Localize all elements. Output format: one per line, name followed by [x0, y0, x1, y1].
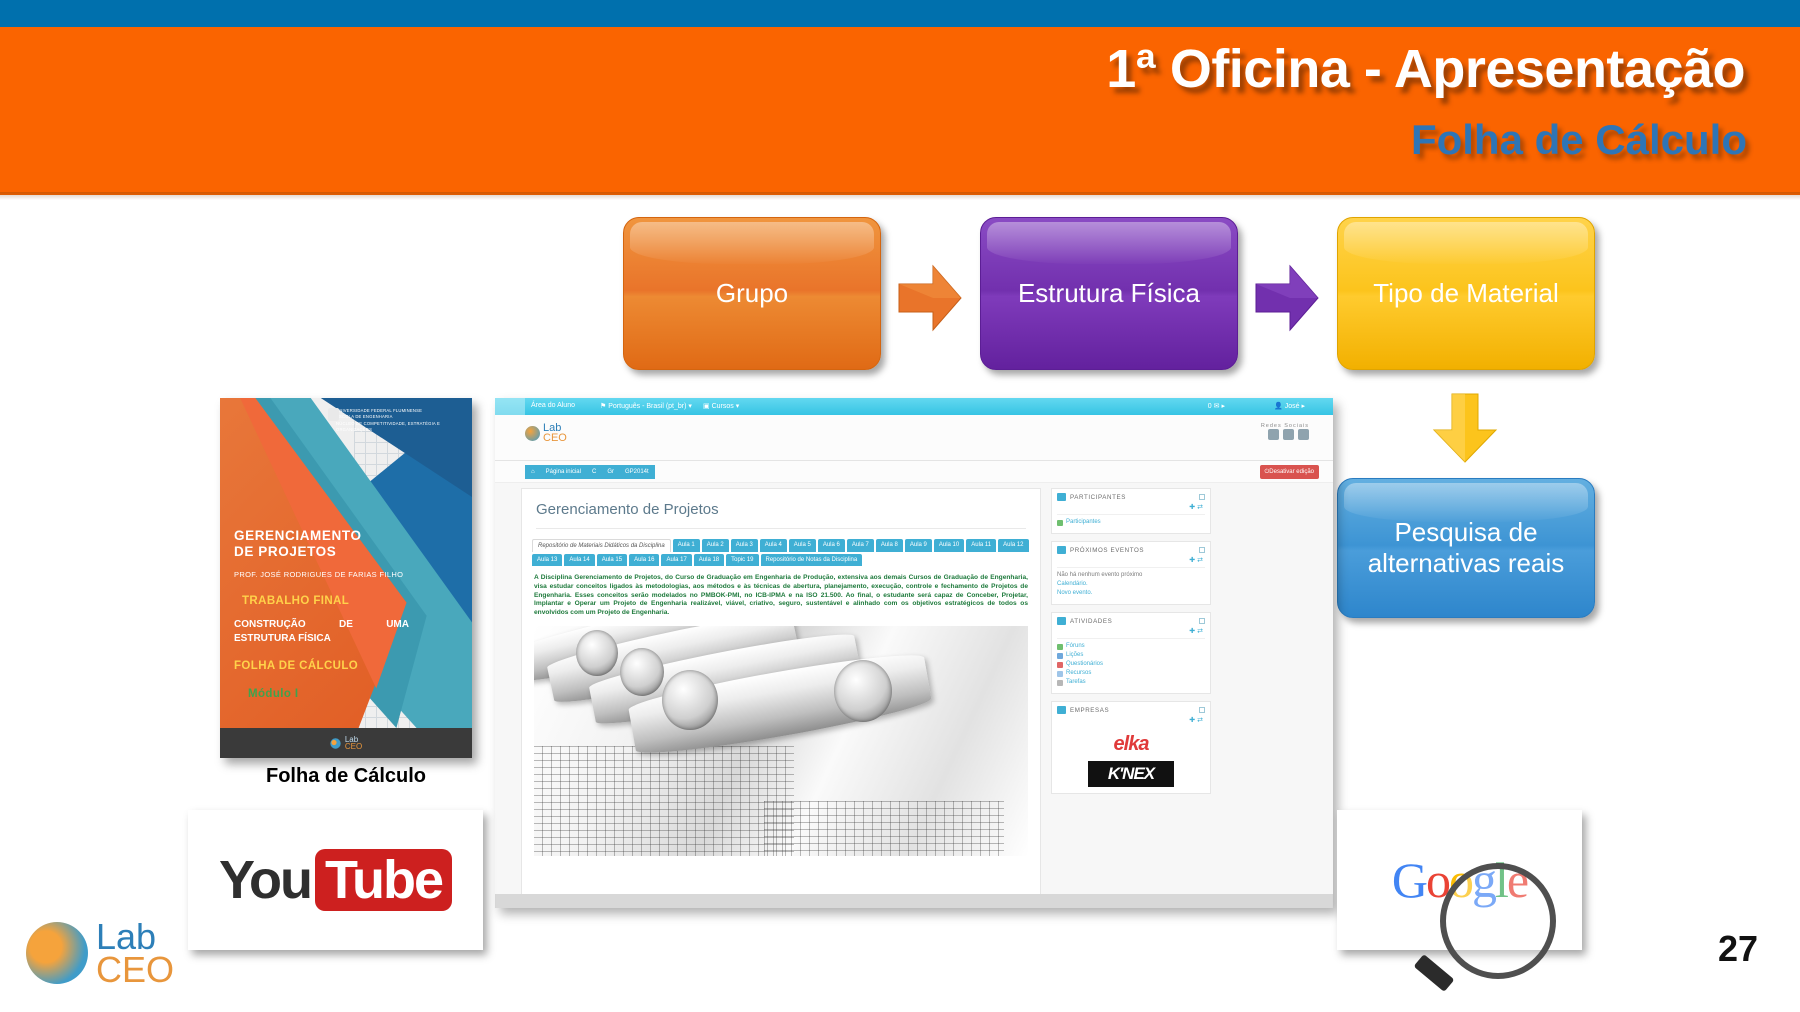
flow-box-tipo-label: Tipo de Material [1363, 278, 1568, 309]
activities-icon [1057, 617, 1066, 625]
calendar-icon [1057, 546, 1066, 554]
sidebar-block-tools[interactable]: ✚⇄ [1057, 627, 1205, 635]
moodle-logo[interactable]: Lab CEO [525, 423, 567, 444]
breadcrumb-item-0[interactable]: Página inicial [546, 469, 581, 475]
facebook-icon[interactable] [1283, 429, 1294, 440]
toggle-editing-button[interactable]: ⏻ Desativar edição [1260, 465, 1319, 479]
top-blue-bar [0, 0, 1800, 27]
breadcrumb-item-3[interactable]: GP2014t [625, 469, 649, 475]
cover-construcao-3: UMA [386, 618, 409, 632]
moodle-header: Lab CEO Redes Sociais [495, 415, 1333, 461]
course-tab[interactable]: Aula 12 [998, 539, 1028, 552]
collapse-icon[interactable] [1199, 707, 1205, 713]
config-icon[interactable]: ⇄ [1197, 557, 1205, 564]
sidebar-link[interactable]: Participantes [1057, 518, 1205, 527]
flow-box-grupo-label: Grupo [706, 278, 798, 309]
cover-caption: Folha de Cálculo [220, 765, 472, 788]
google-logo-tile[interactable]: Google [1337, 810, 1582, 950]
sidebar-link[interactable]: Calendário. [1057, 580, 1205, 589]
sidebar-block-header: PARTICIPANTES [1057, 493, 1205, 501]
course-tab[interactable]: Aula 3 [731, 539, 758, 552]
move-icon[interactable]: ✚ [1189, 717, 1197, 724]
sidebar-block: PRÓXIMOS EVENTOS✚⇄Não há nenhum evento p… [1051, 541, 1211, 605]
navbar-left-accent [495, 398, 525, 415]
flag-icon: ⚑ [600, 403, 606, 410]
sidebar-block: ATIVIDADES✚⇄FórunsLiçõesQuestionáriosRec… [1051, 612, 1211, 694]
moodle-screenshot[interactable]: Área do Aluno ⚑ Português - Brasil (pt_b… [495, 398, 1333, 908]
course-tab[interactable]: Aula 13 [532, 554, 562, 566]
collapse-icon[interactable] [1199, 547, 1205, 553]
list-bullet-icon [1057, 653, 1063, 659]
moodle-nav-user-label: José [1285, 403, 1300, 410]
sidebar-link[interactable]: Fóruns [1057, 642, 1205, 651]
moodle-nav-courses[interactable]: ▣ Cursos ▾ [703, 402, 739, 410]
course-tab[interactable]: Topic 19 [726, 554, 758, 566]
cover-footer-ceo: CEO [345, 743, 362, 750]
course-tab[interactable]: Aula 15 [597, 554, 627, 566]
flow-box-estrutura-fisica[interactable]: Estrutura Física [980, 217, 1238, 370]
course-tab[interactable]: Repositório de Materiais Didáticos da Di… [532, 539, 671, 552]
footer-logo-ceo: CEO [96, 953, 174, 986]
course-tab[interactable]: Aula 1 [673, 539, 700, 552]
cover-professor: PROF. JOSÉ RODRIGUES DE FARIAS FILHO [234, 570, 403, 579]
moodle-nav-language-label: Português - Brasil (pt_br) [608, 403, 686, 410]
arrow-estrutura-to-tipo-icon [1254, 262, 1320, 334]
arrow-tipo-to-pesquisa-icon [1430, 392, 1500, 464]
sidebar-block-header: ATIVIDADES [1057, 617, 1205, 625]
sidebar-item-label: Calendário. [1057, 580, 1088, 589]
labceo-dot-icon [26, 922, 88, 984]
sidebar-item-label: Não há nenhum evento próximo [1057, 571, 1142, 580]
cover-construcao-block: CONSTRUÇÃO DE UMA ESTRUTURA FÍSICA [234, 618, 414, 645]
list-bullet-icon [1057, 644, 1063, 650]
course-tabs: Repositório de Materiais Didáticos da Di… [532, 539, 1030, 566]
cover-artwork: UNIVERSIDADE FEDERAL FLUMINENSE ESCOLA D… [220, 398, 472, 758]
course-tab[interactable]: Aula 9 [905, 539, 932, 552]
sidebar-text: Não há nenhum evento próximo [1057, 571, 1205, 580]
flow-box-pesquisa-alternativas[interactable]: Pesquisa de alternativas reais [1337, 478, 1595, 618]
header-shadow [0, 192, 1800, 200]
course-tab[interactable]: Aula 6 [818, 539, 845, 552]
sidebar-block-body: Participantes [1057, 514, 1205, 527]
sidebar-item-label: Tarefas [1066, 678, 1086, 687]
breadcrumb-item-1[interactable]: C [592, 469, 596, 475]
page-title: 1ª Oficina - Apresentação [1106, 38, 1745, 100]
sidebar-block: EMPRESAS✚⇄elkaK'NEX [1051, 701, 1211, 794]
sidebar-item-label: Fóruns [1066, 642, 1085, 651]
sidebar-block-title: PRÓXIMOS EVENTOS [1070, 547, 1144, 554]
course-tab[interactable]: Aula 11 [966, 539, 996, 552]
page-subtitle: Folha de Cálculo [1411, 116, 1747, 164]
toggle-editing-label: Desativar edição [1269, 469, 1314, 475]
moodle-navbar: Área do Aluno ⚑ Português - Brasil (pt_b… [495, 398, 1333, 415]
sidebar-block-title: EMPRESAS [1070, 707, 1109, 714]
youtube-logo: You Tube [219, 849, 452, 911]
avatar: 👤 [1274, 403, 1283, 410]
envelope-icon: ✉ [1214, 403, 1220, 410]
cover-construcao-2: DE [339, 618, 353, 632]
cover-construcao-4: ESTRUTURA FÍSICA [234, 632, 414, 646]
google-logo: Google [1392, 851, 1527, 909]
youtube-logo-tube: Tube [315, 849, 452, 911]
sidebar-block-tools[interactable]: ✚⇄ [1057, 503, 1205, 511]
course-tab[interactable]: Aula 17 [661, 554, 691, 566]
cover-university-block: UNIVERSIDADE FEDERAL FLUMINENSE ESCOLA D… [336, 408, 462, 433]
sidebar-block-title: PARTICIPANTES [1070, 494, 1126, 501]
sidebar-link[interactable]: Novo evento. [1057, 589, 1205, 598]
sidebar-link[interactable]: Recursos [1057, 669, 1205, 678]
moodle-nav-language[interactable]: ⚑ Português - Brasil (pt_br) ▾ [600, 402, 692, 410]
sidebar-block-title: ATIVIDADES [1070, 618, 1112, 625]
courses-icon: ▣ [703, 403, 710, 410]
course-tab[interactable]: Aula 10 [934, 539, 964, 552]
sidebar-link[interactable]: Lições [1057, 651, 1205, 660]
home-icon: ⌂ [531, 469, 535, 475]
sidebar-block: PARTICIPANTES✚⇄Participantes [1051, 488, 1211, 534]
course-tab[interactable]: Aula 16 [629, 554, 659, 566]
moodle-breadcrumb-bar: ⌂ Página inicial C Gr GP2014t ⏻ Desativa… [495, 461, 1333, 483]
companies-icon [1057, 706, 1066, 714]
cover-thumbnail[interactable]: UNIVERSIDADE FEDERAL FLUMINENSE ESCOLA D… [220, 398, 472, 758]
youtube-logo-you: You [219, 849, 311, 911]
company-logo-elka: elka [1057, 733, 1205, 756]
course-tab[interactable]: Repositório de Notas da Disciplina [761, 554, 863, 566]
moodle-social-block: Redes Sociais [1261, 423, 1309, 442]
sidebar-item-label: Novo evento. [1057, 589, 1092, 598]
sidebar-block-tools[interactable]: ✚⇄ [1057, 556, 1205, 564]
moodle-nav-message-count: 0 [1208, 403, 1212, 410]
company-logo-knex: K'NEX [1088, 761, 1174, 787]
course-tab[interactable]: Aula 14 [564, 554, 594, 566]
collapse-icon[interactable] [1199, 618, 1205, 624]
cover-heading: GERENCIAMENTO DE PROJETOS [234, 528, 362, 561]
company-logo-elka-text: elka [1057, 733, 1205, 756]
breadcrumb: ⌂ Página inicial C Gr GP2014t [525, 465, 655, 479]
magnifier-icon [1440, 863, 1556, 979]
list-bullet-icon [1057, 671, 1063, 677]
moodle-nav-courses-label: Cursos [712, 403, 734, 410]
course-tab[interactable]: Aula 7 [847, 539, 874, 552]
moodle-logo-ceo: CEO [543, 433, 567, 443]
arrow-grupo-to-estrutura-icon [897, 262, 963, 334]
cover-heading-line2: DE PROJETOS [234, 544, 362, 560]
cover-modulo: Módulo I [248, 688, 298, 700]
sidebar-item-label: Recursos [1066, 669, 1091, 678]
flow-box-pesquisa-label: Pesquisa de alternativas reais [1338, 517, 1594, 579]
cover-trabalho-final: TRABALHO FINAL [242, 595, 349, 607]
university-crest-icon [328, 408, 339, 421]
sidebar-block-body: FórunsLiçõesQuestionáriosRecursosTarefas [1057, 638, 1205, 687]
flow-box-tipo-de-material[interactable]: Tipo de Material [1337, 217, 1595, 370]
sidebar-link[interactable]: Questionários [1057, 660, 1205, 669]
flow-box-grupo[interactable]: Grupo [623, 217, 881, 370]
collapse-icon[interactable] [1199, 494, 1205, 500]
sidebar-item-label: Lições [1066, 651, 1083, 660]
people-icon [1057, 493, 1066, 501]
flow-box-estrutura-label: Estrutura Física [1008, 278, 1210, 309]
sidebar-block-tools[interactable]: ✚⇄ [1057, 716, 1205, 724]
twitter-icon[interactable] [1268, 429, 1279, 440]
cover-footer-logo: Lab CEO [220, 728, 472, 758]
moodle-sidebar: PARTICIPANTES✚⇄ParticipantesPRÓXIMOS EVE… [1051, 488, 1211, 801]
moodle-nav-brand[interactable]: Área do Aluno [531, 402, 575, 409]
labceo-dot-icon [525, 426, 540, 441]
config-icon[interactable]: ⇄ [1197, 717, 1205, 724]
moodle-nav-messages[interactable]: 0 ✉ ▸ [1208, 402, 1225, 410]
course-tab[interactable]: Aula 4 [760, 539, 787, 552]
labceo-footer-logo: Lab CEO [26, 920, 174, 986]
divider [536, 528, 1026, 529]
list-bullet-icon [1057, 662, 1063, 668]
move-icon[interactable]: ✚ [1189, 557, 1197, 564]
sidebar-block-header: PRÓXIMOS EVENTOS [1057, 546, 1205, 554]
course-tab[interactable]: Aula 5 [789, 539, 816, 552]
list-bullet-icon [1057, 680, 1063, 686]
blueprint-image [534, 626, 1028, 856]
youtube-logo-tile[interactable]: You Tube [188, 810, 483, 950]
sidebar-block-body: Não há nenhum evento próximoCalendário.N… [1057, 567, 1205, 598]
moodle-nav-user[interactable]: 👤 José ▸ [1274, 402, 1305, 410]
course-tab[interactable]: Aula 18 [694, 554, 724, 566]
move-icon[interactable]: ✚ [1189, 628, 1197, 635]
course-tab[interactable]: Aula 2 [702, 539, 729, 552]
location-icon[interactable] [1298, 429, 1309, 440]
page-number: 27 [1718, 928, 1758, 970]
sidebar-block-header: EMPRESAS [1057, 706, 1205, 714]
course-tab[interactable]: Aula 8 [876, 539, 903, 552]
moodle-main-content: Gerenciamento de Projetos Repositório de… [521, 488, 1041, 908]
cover-construcao-1: CONSTRUÇÃO [234, 618, 306, 632]
cover-university-line3: NÚCLEO DE COMPETITIVIDADE, ESTRATÉGIA E … [336, 421, 462, 434]
course-title: Gerenciamento de Projetos [536, 501, 1040, 518]
breadcrumb-item-2[interactable]: Gr [607, 469, 614, 475]
sidebar-item-label: Participantes [1066, 518, 1101, 527]
cover-heading-line1: GERENCIAMENTO [234, 528, 362, 544]
moodle-bottom-bar [495, 894, 1333, 908]
move-icon[interactable]: ✚ [1189, 504, 1197, 511]
config-icon[interactable]: ⇄ [1197, 628, 1205, 635]
cover-folha-calculo: FOLHA DE CÁLCULO [234, 660, 358, 672]
sidebar-item-label: Questionários [1066, 660, 1103, 669]
labceo-dot-icon [330, 738, 341, 749]
slide-canvas: 1ª Oficina - Apresentação Folha de Cálcu… [0, 0, 1800, 1012]
course-description: A Disciplina Gerenciamento de Projetos, … [534, 574, 1028, 618]
config-icon[interactable]: ⇄ [1197, 504, 1205, 511]
sidebar-link[interactable]: Tarefas [1057, 678, 1205, 687]
list-bullet-icon [1057, 520, 1063, 526]
